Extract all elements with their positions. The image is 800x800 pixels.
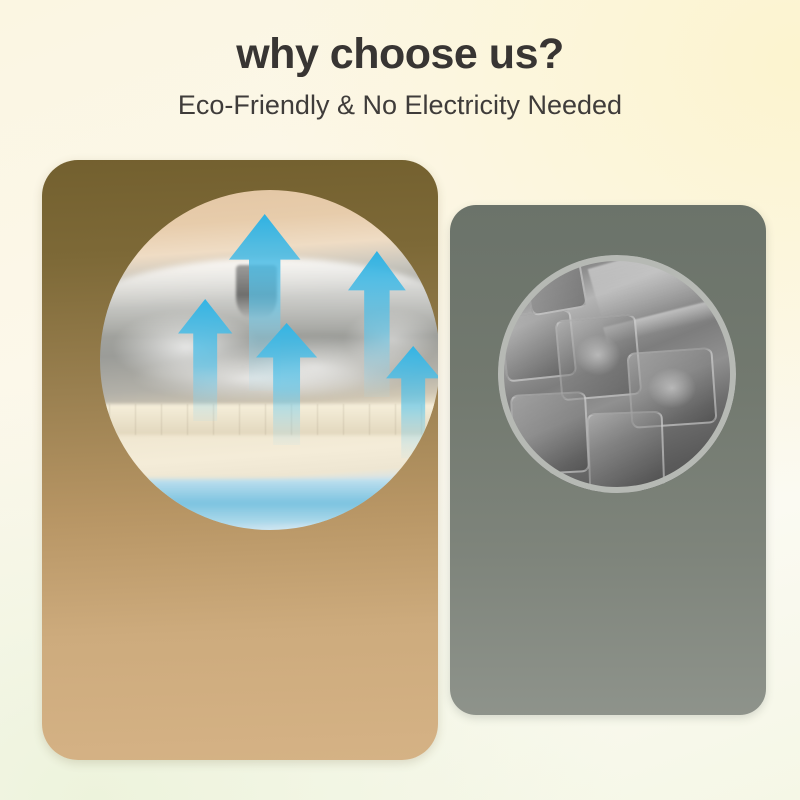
ours-card[interactable] <box>42 160 438 760</box>
page-subtitle: Eco-Friendly & No Electricity Needed <box>0 79 800 121</box>
airflow-arrow-up-icon <box>386 346 438 458</box>
ice-water-layer <box>100 479 438 523</box>
ours-product-image <box>100 190 438 530</box>
others-product-image <box>498 255 736 493</box>
airflow-arrow-up-icon <box>256 323 317 445</box>
others-image-ring <box>498 255 736 493</box>
page-title: why choose us? <box>0 0 800 79</box>
others-card[interactable] <box>450 205 766 715</box>
header: why choose us? Eco-Friendly & No Electri… <box>0 0 800 122</box>
airflow-arrow-up-icon <box>178 299 232 421</box>
infographic-canvas: why choose us? Eco-Friendly & No Electri… <box>0 0 800 800</box>
